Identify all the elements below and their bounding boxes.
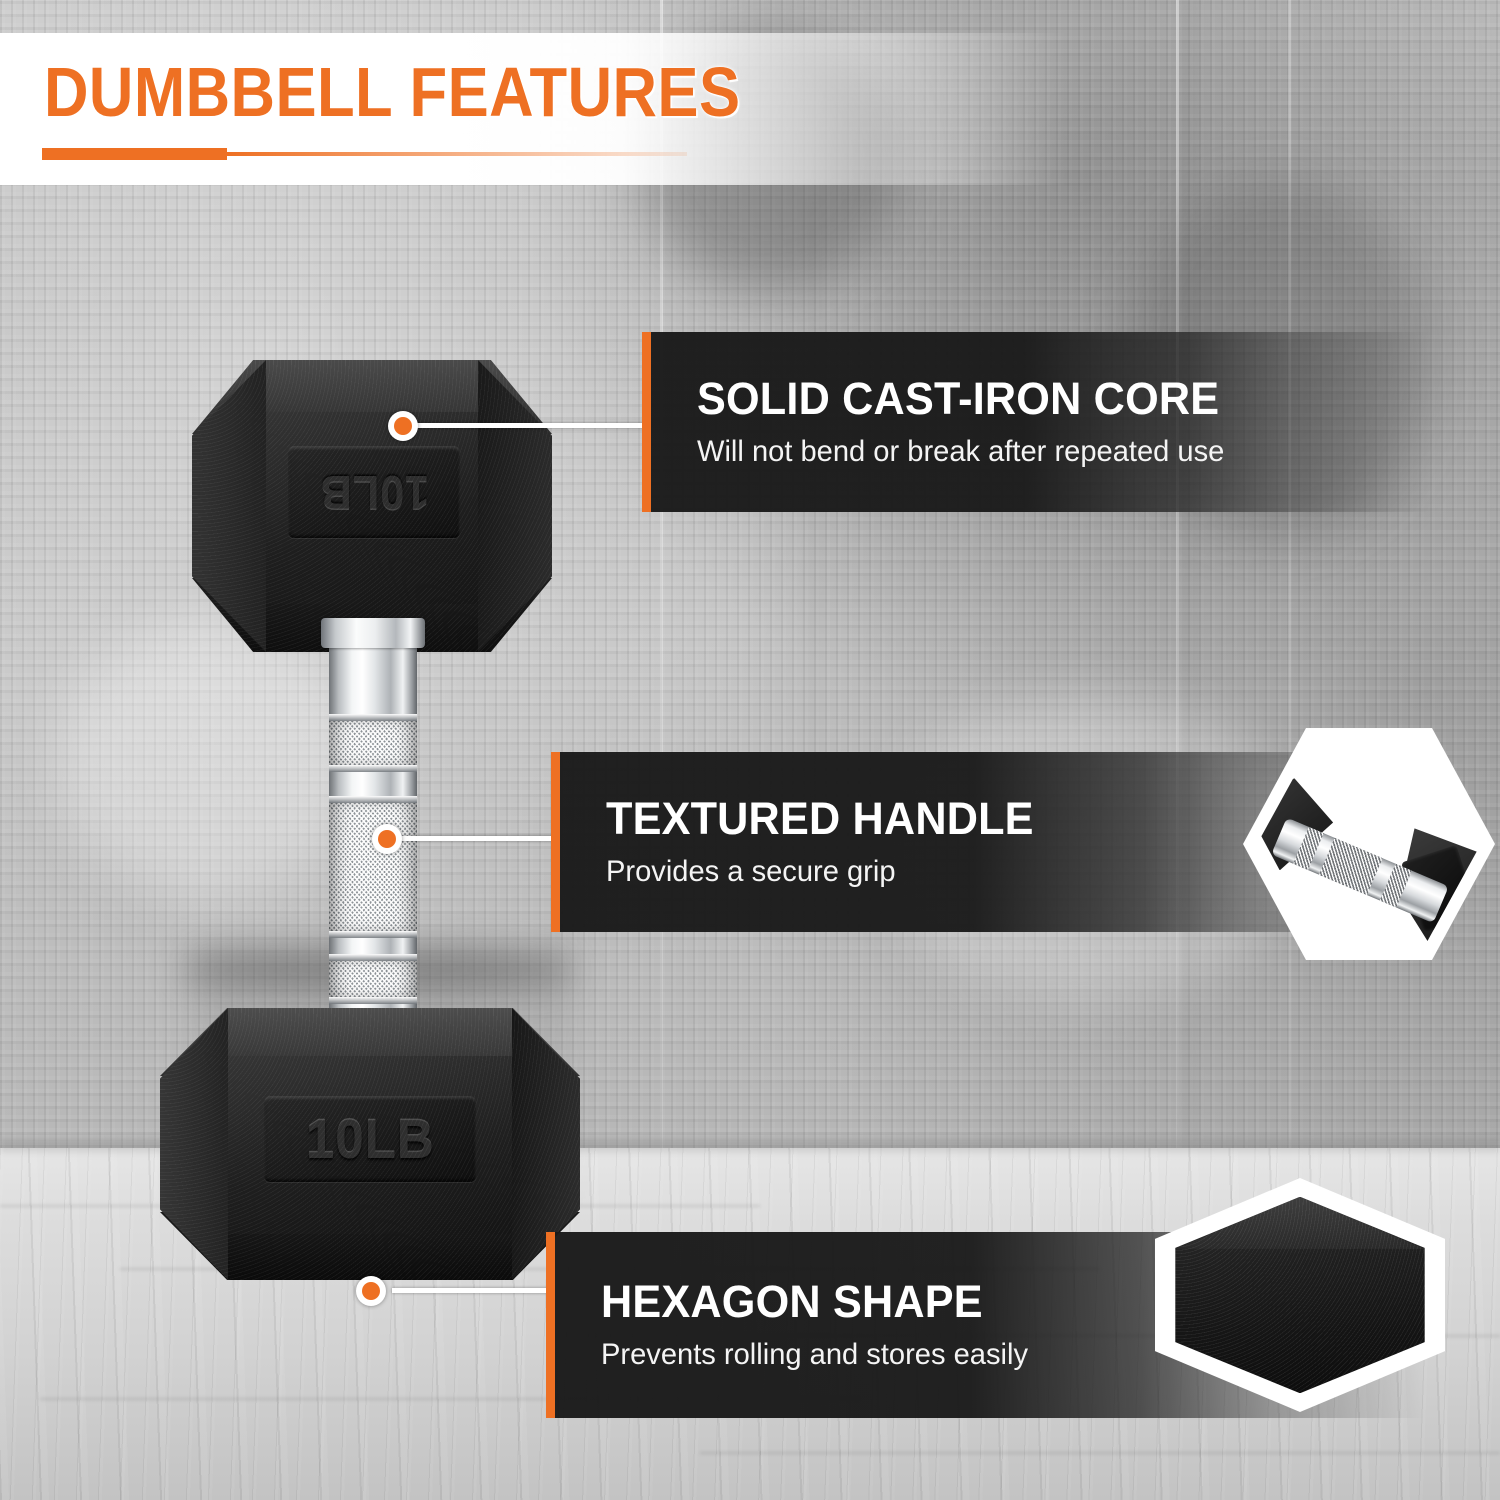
callout-subtitle: Will not bend or break after repeated us…: [697, 436, 1476, 468]
callout-solid-cast-iron-core: SOLID CAST-IRON CORE Will not bend or br…: [642, 332, 1500, 512]
page-title: DUMBBELL FEATURES: [44, 52, 740, 132]
rubber-texture: [192, 360, 552, 652]
inset-knurl-band: [1380, 864, 1412, 908]
top-end-cap: 10LB: [192, 360, 552, 652]
title-underline-thick: [42, 148, 227, 160]
connector-line-handle: [396, 836, 556, 841]
wall-seam: [1288, 0, 1291, 1148]
handle-ring: [329, 714, 417, 721]
knurl-band-main: [329, 803, 417, 931]
infographic-canvas: DUMBBELL FEATURES 10LB: [0, 0, 1500, 1500]
callout-panel: SOLID CAST-IRON CORE Will not bend or br…: [651, 332, 1500, 512]
inset-knurl-band: [1293, 827, 1323, 870]
rubber-texture: [160, 1008, 580, 1280]
knurl-band-upper: [329, 721, 417, 765]
floor-grain: [700, 1452, 1500, 1454]
handle-collar-top: [321, 618, 425, 648]
connector-line-hexagon: [392, 1288, 552, 1293]
hotspot-dot-core[interactable]: [388, 411, 418, 441]
handle-ring: [329, 765, 417, 772]
callout-accent-bar: [546, 1232, 555, 1418]
callout-accent-bar: [642, 332, 651, 512]
hotspot-dot-hexagon[interactable]: [356, 1276, 386, 1306]
inset-knurl-band: [1319, 838, 1382, 895]
callout-title: SOLID CAST-IRON CORE: [697, 376, 1468, 423]
inset-handle-closeup-image: [1257, 742, 1481, 945]
inset-rubber-texture: [1175, 1197, 1424, 1394]
handle-ring: [329, 931, 417, 938]
title-underline-thin: [227, 152, 687, 156]
callout-accent-bar: [551, 752, 560, 932]
dumbbell-product-photo: 10LB 1: [160, 360, 580, 1270]
connector-line-core: [400, 423, 650, 428]
handle-ring: [329, 796, 417, 803]
knurl-band-lower: [329, 961, 417, 997]
handle-ring: [329, 997, 417, 1004]
chrome-handle: [321, 618, 425, 1038]
bottom-end-cap: 10LB: [160, 1008, 580, 1280]
hotspot-dot-handle[interactable]: [372, 824, 402, 854]
handle-ring: [329, 954, 417, 961]
inset-hexagon-body: [1175, 1197, 1424, 1394]
